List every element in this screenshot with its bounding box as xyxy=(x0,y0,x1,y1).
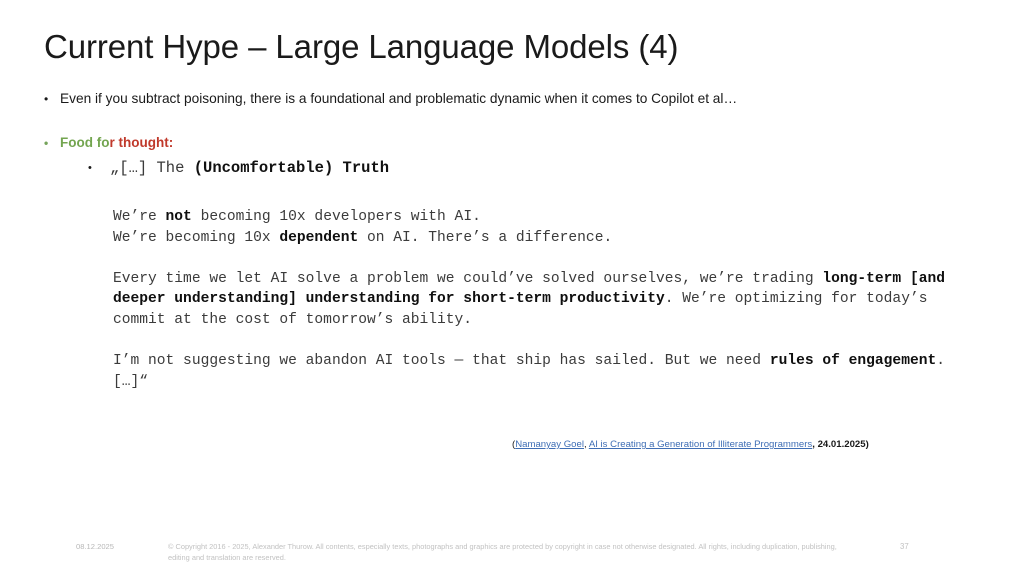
bullet-marker-icon: • xyxy=(44,90,60,108)
food-label-red: r thought: xyxy=(109,135,173,150)
citation-date: , 24.01.2025) xyxy=(812,439,869,450)
quote-headline-row: • „[…] The (Uncomfortable) Truth xyxy=(88,158,389,178)
page-title: Current Hype – Large Language Models (4) xyxy=(44,27,678,67)
food-label-green: Food fo xyxy=(60,135,109,150)
quote-line: We’re not becoming 10x developers with A… xyxy=(113,207,963,228)
footer-date: 08.12.2025 xyxy=(76,542,114,552)
quote-line: Every time we let AI solve a problem we … xyxy=(113,269,963,331)
quote-segment-bold: dependent xyxy=(279,230,358,246)
quote-segment: I’m not suggesting we abandon AI tools —… xyxy=(113,353,770,369)
bullet-marker-icon: • xyxy=(88,158,110,178)
quote-segment: We’re becoming 10x xyxy=(113,230,279,246)
quote-line: We’re becoming 10x dependent on AI. Ther… xyxy=(113,228,963,249)
bullet-item-food-for-thought: • Food for thought: xyxy=(44,134,173,152)
quote-segment: Every time we let AI solve a problem we … xyxy=(113,271,822,287)
slide-canvas: Current Hype – Large Language Models (4)… xyxy=(0,0,1024,575)
quote-headline-bold: (Uncomfortable) Truth xyxy=(194,159,389,177)
bullet-marker-icon: • xyxy=(44,134,60,152)
quote-segment-bold: rules of engagement xyxy=(770,353,936,369)
footer-copyright: © Copyright 2016 - 2025, Alexander Thuro… xyxy=(168,542,858,563)
quote-segment: becoming 10x developers with AI. xyxy=(192,209,481,225)
footer-page-number: 37 xyxy=(900,542,930,552)
citation-article-link[interactable]: AI is Creating a Generation of Illiterat… xyxy=(589,439,812,450)
quote-body: We’re not becoming 10x developers with A… xyxy=(113,207,963,392)
bullet-text-dynamic: Even if you subtract poisoning, there is… xyxy=(60,90,737,108)
quote-line-spacer xyxy=(113,248,963,269)
quote-line: I’m not suggesting we abandon AI tools —… xyxy=(113,351,963,392)
quote-segment: We’re xyxy=(113,209,166,225)
quote-line-spacer xyxy=(113,331,963,352)
source-citation: (Namanyay Goel, AI is Creating a Generat… xyxy=(512,438,869,451)
quote-segment-bold: not xyxy=(166,209,192,225)
quote-headline-prefix: „[…] The xyxy=(110,159,194,177)
quote-headline: „[…] The (Uncomfortable) Truth xyxy=(110,158,389,178)
quote-segment: on AI. There’s a difference. xyxy=(358,230,612,246)
bullet-item-dynamic: • Even if you subtract poisoning, there … xyxy=(44,90,737,108)
citation-author-link[interactable]: Namanyay Goel xyxy=(515,439,584,450)
food-for-thought-label: Food for thought: xyxy=(60,134,173,152)
